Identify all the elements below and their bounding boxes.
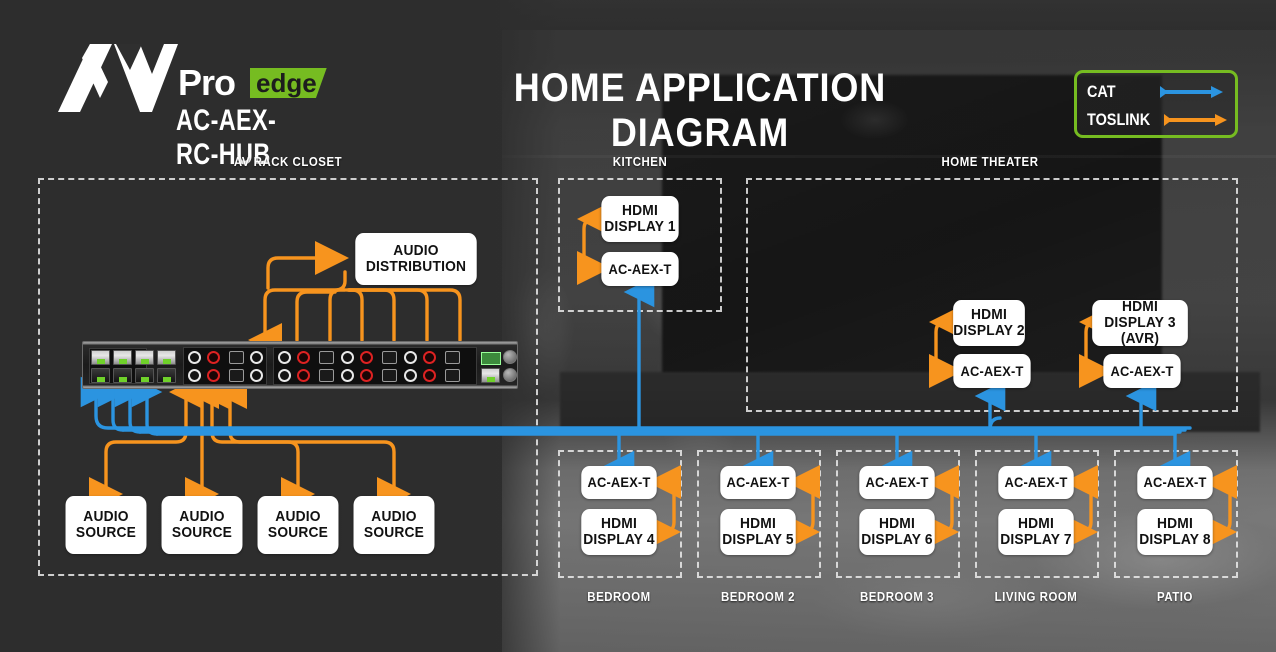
- node-theater-left-extender[interactable]: AC-AEX-T: [953, 354, 1030, 388]
- node-living-room-extender[interactable]: AC-AEX-T: [998, 466, 1073, 499]
- zone-label-av-rack-closet: AV RACK CLOSET: [193, 154, 383, 169]
- zone-label-living-room: LIVING ROOM: [981, 589, 1092, 604]
- node-hdmi-display-7[interactable]: HDMI DISPLAY 7: [998, 509, 1073, 555]
- av-monogram-icon: [56, 42, 180, 114]
- node-bedroom-2-extender[interactable]: AC-AEX-T: [720, 466, 795, 499]
- zone-label-home-theater: HOME THEATER: [904, 154, 1076, 169]
- zone-label-patio: PATIO: [1120, 589, 1231, 604]
- page-title: HOME APPLICATION DIAGRAM: [466, 66, 934, 156]
- node-audio-source-4[interactable]: AUDIO SOURCE: [354, 496, 435, 554]
- arrow-right-icon: [1157, 84, 1225, 100]
- node-hdmi-display-8[interactable]: HDMI DISPLAY 8: [1137, 509, 1212, 555]
- node-audio-source-1[interactable]: AUDIO SOURCE: [66, 496, 147, 554]
- zone-label-bedroom-3: BEDROOM 3: [842, 589, 953, 604]
- legend-row-toslink: TOSLINK: [1087, 106, 1225, 134]
- node-hdmi-display-4[interactable]: HDMI DISPLAY 4: [581, 509, 656, 555]
- arrow-right-icon: [1161, 112, 1229, 128]
- legend-row-cat: CAT: [1087, 78, 1225, 106]
- zone-label-bedroom: BEDROOM: [564, 589, 675, 604]
- logo-pro-text: Pro: [178, 62, 235, 104]
- node-theater-right-extender[interactable]: AC-AEX-T: [1103, 354, 1180, 388]
- node-bedroom-extender[interactable]: AC-AEX-T: [581, 466, 656, 499]
- node-hdmi-display-1[interactable]: HDMI DISPLAY 1: [601, 196, 678, 242]
- node-hdmi-display-5[interactable]: HDMI DISPLAY 5: [720, 509, 795, 555]
- node-hdmi-display-6[interactable]: HDMI DISPLAY 6: [859, 509, 934, 555]
- node-hdmi-display-3-avr[interactable]: HDMI DISPLAY 3 (AVR): [1092, 300, 1188, 346]
- logo-edge-text: edge: [250, 68, 327, 98]
- zone-label-bedroom-2: BEDROOM 2: [703, 589, 814, 604]
- node-audio-distribution[interactable]: AUDIO DISTRIBUTION: [355, 233, 476, 285]
- avpro-edge-logo: Pro edge AC-AEX-RC-HUB: [42, 46, 342, 138]
- legend-label-cat: CAT: [1087, 82, 1147, 102]
- zone-label-kitchen: KITCHEN: [563, 154, 718, 169]
- node-audio-source-3[interactable]: AUDIO SOURCE: [258, 496, 339, 554]
- node-kitchen-extender[interactable]: AC-AEX-T: [601, 252, 678, 286]
- node-hdmi-display-2[interactable]: HDMI DISPLAY 2: [953, 300, 1025, 346]
- node-audio-source-2[interactable]: AUDIO SOURCE: [162, 496, 243, 554]
- legend-label-toslink: TOSLINK: [1087, 110, 1150, 130]
- node-patio-extender[interactable]: AC-AEX-T: [1137, 466, 1212, 499]
- ac-aex-rc-hub-device[interactable]: [82, 341, 518, 389]
- node-bedroom-3-extender[interactable]: AC-AEX-T: [859, 466, 934, 499]
- legend-box: CAT TOSLINK: [1074, 70, 1238, 138]
- diagram-canvas: Pro edge AC-AEX-RC-HUB HOME APPLICATION …: [0, 0, 1276, 652]
